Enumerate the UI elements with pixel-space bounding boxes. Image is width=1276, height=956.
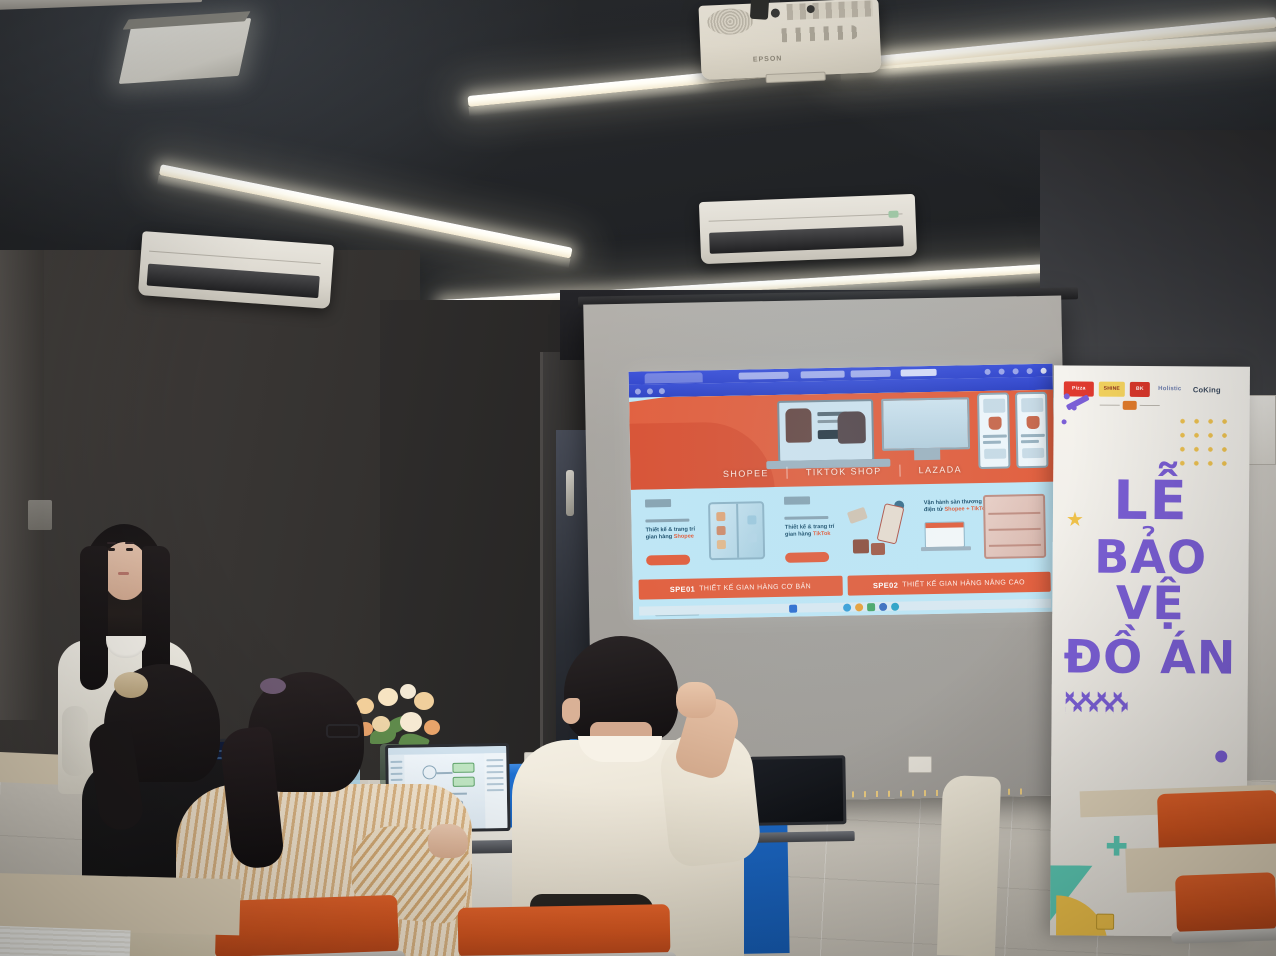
attendee-striped-hand [428, 824, 468, 858]
shelf-item [717, 540, 726, 549]
light-wood-table-front [0, 873, 241, 936]
hero-phone-mockup-2 [1015, 392, 1048, 469]
taskbar-app-icon[interactable] [789, 605, 797, 613]
spe01-label: THIẾT KẾ GIAN HÀNG CƠ BẢN [699, 583, 811, 592]
card-cta-button[interactable] [646, 555, 690, 566]
ladipage-logo-icon [784, 496, 810, 504]
air-conditioner-center [699, 194, 917, 264]
spe02-label: THIẾT KẾ GIAN HÀNG NÂNG CAO [902, 579, 1025, 588]
laptop-right-lid [749, 755, 846, 825]
orange-chair-1[interactable] [213, 895, 399, 956]
spe-banner-row: SPE01 THIẾT KẾ GIAN HÀNG CƠ BẢN SPE02 TH… [639, 572, 1051, 600]
projector-ports [786, 0, 873, 20]
service-card-shopee[interactable]: Thiết kế & trang trí gian hàng Shopee [637, 491, 772, 574]
card-headline: Thiết kế & trang trí gian hàng Shopee [646, 526, 708, 541]
slide-footer [639, 596, 1051, 616]
shopping-bag-icon-2 [871, 543, 885, 555]
phone-block [984, 449, 1006, 459]
ac-panel-line [149, 251, 321, 265]
banner-title-line-3: ĐỒ ÁN [1052, 633, 1248, 680]
card-highlight: Shopee [674, 534, 694, 540]
phone-block [1022, 448, 1044, 458]
presenter-eye-right [126, 548, 133, 551]
panel-line [487, 777, 504, 779]
credit-card-icon [847, 507, 868, 524]
card-artwork [704, 499, 767, 562]
presenter-eyebrow-right [125, 542, 134, 544]
phone-product-icon [1026, 416, 1039, 429]
banner-dot-decor-1 [1064, 393, 1070, 399]
panel-line [486, 765, 503, 767]
browser-tab-2[interactable] [739, 372, 789, 380]
left-wall-edge [0, 250, 44, 720]
spe01-banner[interactable]: SPE01 THIẾT KẾ GIAN HÀNG CƠ BẢN [639, 576, 843, 600]
spe02-code: SPE02 [873, 580, 899, 589]
sponsor-logo-row: Pizza SHINE BK Holistic CoKing [1064, 379, 1242, 398]
banner-purple-dot-decor [1215, 750, 1227, 762]
presenter-mouth [118, 572, 129, 575]
presenter-eyebrow-left [107, 542, 116, 544]
ac-status-led-icon [888, 211, 898, 218]
hero-monitor-mockup [881, 397, 970, 451]
page-content: SHOPEE TIKTOK SHOP LAZADA Thiết kế & tra… [629, 390, 1057, 620]
banner-zigzag-decor [1066, 691, 1128, 713]
ladipage-logo-icon [645, 499, 671, 507]
taskbar-app-icon[interactable] [891, 603, 899, 611]
banner-teal-cross-icon [1107, 836, 1127, 856]
nav-item-shopee[interactable]: SHOPEE [705, 468, 787, 480]
shelf-row [989, 528, 1041, 530]
sponsor-logo-2: SHINE [1099, 381, 1125, 396]
browser-tab-1[interactable] [645, 372, 703, 383]
sponsor-logo-3: BK [1130, 381, 1150, 396]
phone-line-2 [1021, 440, 1039, 443]
phone-line-2 [983, 441, 1001, 444]
phone-line-1 [983, 435, 1007, 438]
phone-banner [983, 399, 1005, 413]
taskbar-app-icon[interactable] [867, 603, 875, 611]
projector-buttons [778, 25, 859, 42]
back-arrow-icon[interactable] [635, 389, 641, 395]
card-kicker-line [785, 516, 829, 520]
service-cards: Thiết kế & trang trí gian hàng Shopee [637, 486, 1050, 574]
card-headline-line-1: Vận hành sàn [924, 499, 960, 506]
browser-avatar[interactable] [1041, 368, 1047, 374]
phone-line-1 [1021, 434, 1045, 437]
shelf-item [748, 533, 757, 542]
banner-title-line-1: LỄ [1053, 473, 1249, 528]
card-headline-line-1: Thiết kế & trang trí [646, 527, 696, 534]
glasses-icon [326, 724, 360, 738]
hero-text-line-2 [818, 420, 840, 423]
ac-grill-icon [709, 225, 904, 254]
orange-chair-2[interactable] [458, 904, 671, 956]
projector-knob-1 [771, 8, 780, 17]
ac-grill-icon [146, 264, 320, 298]
projector-vent-icon [707, 8, 754, 36]
panel-line [487, 771, 504, 773]
browser-menu-icon[interactable] [1027, 368, 1033, 374]
attendee-hair-tie [114, 672, 148, 698]
attendee-man-collar [578, 736, 662, 762]
door-handle[interactable] [566, 470, 574, 516]
ac-panel-line [708, 213, 902, 221]
presenter-eye-left [108, 548, 115, 551]
ceiling-projector: EPSON [698, 0, 881, 80]
taskbar-app-icon[interactable] [855, 603, 863, 611]
sponsor-logo-5: CoKing [1190, 382, 1224, 397]
browser-bookmark-icon[interactable] [999, 369, 1005, 375]
shopping-cart-icon [846, 502, 907, 555]
os-taskbar[interactable] [639, 599, 1051, 616]
product-shirt-icon-2 [837, 411, 866, 444]
banner-dot-grid-decor [1175, 414, 1233, 470]
spe01-code: SPE01 [670, 584, 696, 593]
attendee-man-ear [562, 698, 580, 724]
phone-icon [876, 503, 904, 545]
service-card-tiktok[interactable]: Thiết kế & trang trí gian hàng TikTok [776, 488, 911, 571]
browser-profile-icon[interactable] [1013, 368, 1019, 374]
wall-power-socket [908, 756, 932, 773]
shelf-item [748, 515, 757, 524]
card-headline-line-1: Thiết kế & trang trí [785, 524, 835, 531]
hair-scrunchie [260, 678, 286, 694]
service-card-operations[interactable]: Vận hành sàn thương mại điện tử Shopee +… [915, 486, 1050, 569]
banner-floor-marker [1096, 914, 1114, 930]
product-shirt-icon [785, 408, 812, 442]
hero-laptop-mockup [777, 399, 874, 463]
forward-arrow-icon[interactable] [647, 388, 653, 394]
spe02-banner[interactable]: SPE02 THIẾT KẾ GIAN HÀNG NÂNG CAO [847, 572, 1051, 596]
shelf-row [988, 512, 1040, 514]
banner-title: LỄ BẢO VỆ ĐỒ ÁN [1052, 473, 1249, 680]
laptop-right[interactable] [749, 755, 846, 843]
orange-chair-4[interactable] [1175, 872, 1276, 933]
card-artwork [983, 494, 1046, 557]
laptop-screen-bar [925, 522, 963, 528]
card-artwork [844, 496, 907, 559]
sponsor-rule-right [1140, 404, 1160, 405]
panel-line [487, 789, 504, 791]
card-highlight: Shopee + TikTok [944, 506, 988, 513]
card-cta-button[interactable] [785, 552, 829, 563]
card-headline-line-2: gian hàng [646, 534, 674, 541]
card-headline: Thiết kế & trang trí gian hàng TikTok [785, 524, 847, 539]
laptop-right-screen [752, 758, 843, 822]
laptop-icon [924, 521, 964, 548]
card-kicker-line [645, 519, 689, 523]
projector-lens-icon [750, 0, 769, 20]
card-highlight: TikTok [813, 531, 831, 537]
store-shelf-icon [708, 501, 765, 560]
browser-tab-3[interactable] [801, 371, 845, 379]
nav-item-lazada[interactable]: LAZADA [901, 464, 981, 476]
nav-item-tiktok-shop[interactable]: TIKTOK SHOP [788, 466, 900, 478]
shelf-row [989, 544, 1041, 546]
browser-tab-active[interactable] [901, 369, 937, 377]
sponsor-logo-4: Holistic [1155, 382, 1185, 397]
reload-icon[interactable] [659, 388, 665, 394]
app-right-panel [484, 753, 507, 828]
phone-banner [1021, 398, 1043, 412]
printed-paper-document [0, 926, 131, 956]
square-panel-light [119, 18, 252, 84]
shelf-item [717, 512, 726, 521]
sponsor-mark-icon [1123, 400, 1137, 409]
panel-line [486, 759, 503, 761]
slide-hero: SHOPEE TIKTOK SHOP LAZADA [629, 390, 1055, 490]
hero-phone-mockup-1 [977, 392, 1010, 469]
sponsor-sub-row [1100, 400, 1160, 410]
classroom-scene: EPSON [0, 0, 1276, 956]
sponsor-rule-left [1100, 404, 1120, 405]
banner-dot-decor-2 [1072, 405, 1077, 410]
projector-brand-label: EPSON [753, 55, 783, 63]
taskbar-app-icon[interactable] [843, 604, 851, 612]
attendee-man-hand [676, 682, 716, 718]
product-shelf-icon [983, 494, 1046, 559]
banner-title-line-2: BẢO VỆ [1052, 533, 1249, 626]
attendee-partial-right [937, 775, 1001, 956]
phone-product-icon [988, 417, 1001, 430]
shopping-bag-icon [852, 539, 868, 553]
browser-extension-icon[interactable] [985, 369, 991, 375]
shelf-item [717, 526, 726, 535]
panel-line [487, 783, 504, 785]
projected-slide: SHOPEE TIKTOK SHOP LAZADA Thiết kế & tra… [629, 364, 1058, 620]
browser-tab-4[interactable] [851, 370, 891, 378]
banner-dot-decor-3 [1062, 419, 1067, 424]
taskbar-app-icon[interactable] [879, 603, 887, 611]
card-headline-line-2: gian hàng [785, 531, 813, 538]
